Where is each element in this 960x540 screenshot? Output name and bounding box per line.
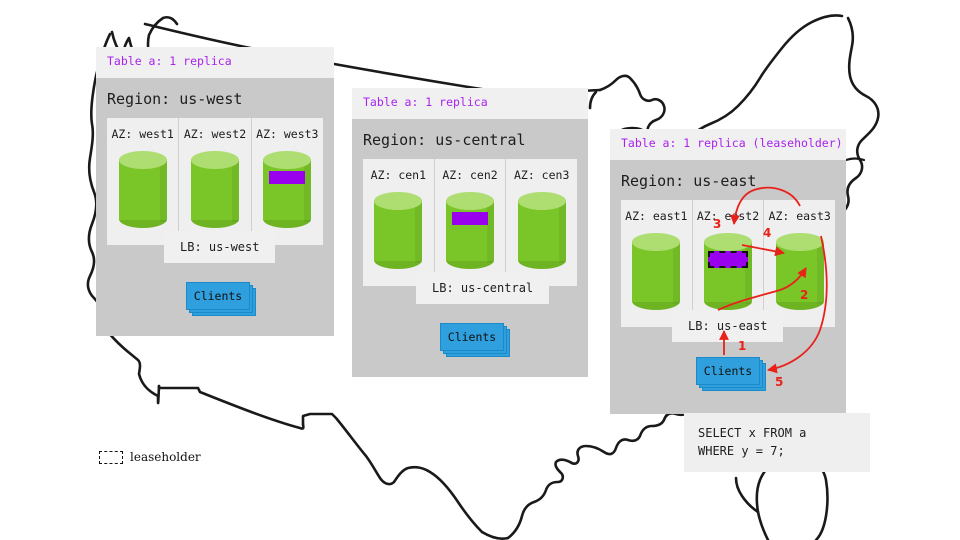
leaseholder-marker-east2: [708, 251, 748, 268]
dashed-rect-icon: [99, 451, 123, 464]
flow-step-3-label: 3: [713, 217, 721, 231]
diagram-canvas: Table a: 1 replica Region: us-west AZ: w…: [0, 0, 960, 540]
legend-label: leaseholder: [130, 450, 201, 464]
replica-marker-west3: [269, 171, 305, 184]
flow-step-1-label: 1: [738, 339, 746, 353]
flow-step-4-label: 4: [763, 226, 771, 240]
replica-marker-cen2: [452, 212, 488, 225]
flow-step-5-label: 5: [775, 375, 783, 389]
flow-step-2-label: 2: [800, 288, 808, 302]
legend-leaseholder: leaseholder: [99, 450, 201, 464]
